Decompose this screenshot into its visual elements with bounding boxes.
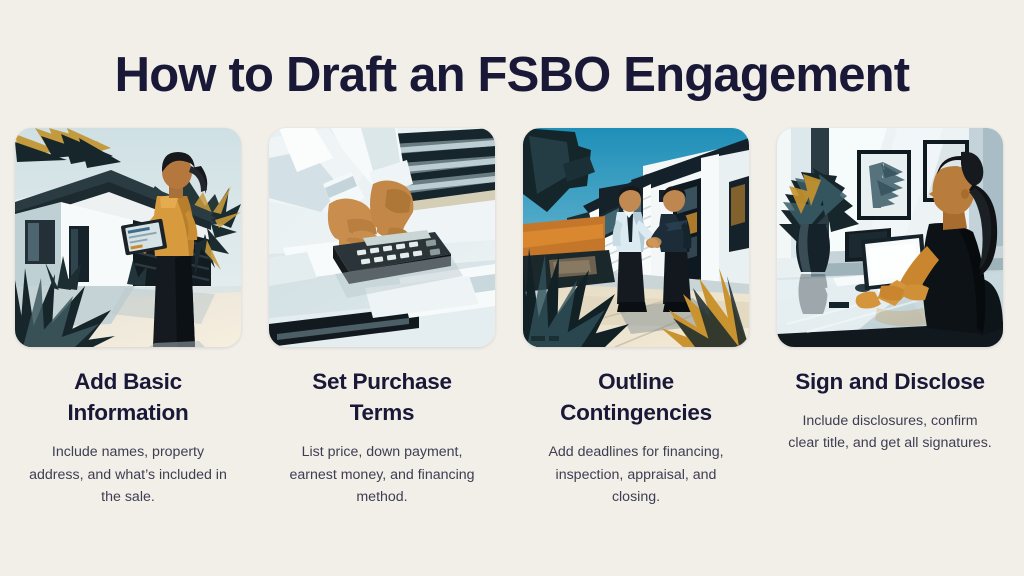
illustration-hands-using-calculator-on-desk bbox=[269, 128, 495, 347]
card-description: Add deadlines for financing, inspection,… bbox=[534, 441, 739, 508]
step-card-1: Add Basic Information Include names, pro… bbox=[15, 128, 241, 508]
step-card-4: Sign and Disclose Include disclosures, c… bbox=[777, 128, 1003, 508]
card-title: Add Basic Information bbox=[23, 366, 233, 428]
illustration-woman-signing-documents-at-desk bbox=[777, 128, 1003, 347]
card-description: Include names, property address, and wha… bbox=[26, 441, 231, 508]
infographic-root: How to Draft an FSBO Engagement bbox=[0, 0, 1024, 576]
step-card-3: Outline Contingencies Add deadlines for … bbox=[523, 128, 749, 508]
illustration-two-people-handshake-at-front-door bbox=[523, 128, 749, 347]
card-grid: Add Basic Information Include names, pro… bbox=[15, 128, 1003, 508]
card-title: Set Purchase Terms bbox=[277, 366, 487, 428]
card-title: Outline Contingencies bbox=[531, 366, 741, 428]
step-card-2: Set Purchase Terms List price, down paym… bbox=[269, 128, 495, 508]
card-title: Sign and Disclose bbox=[795, 366, 985, 397]
illustration-agent-with-tablet-at-house bbox=[15, 128, 241, 347]
card-description: List price, down payment, earnest money,… bbox=[280, 441, 485, 508]
page-title: How to Draft an FSBO Engagement bbox=[0, 50, 1024, 101]
card-description: Include disclosures, confirm clear title… bbox=[788, 410, 993, 455]
